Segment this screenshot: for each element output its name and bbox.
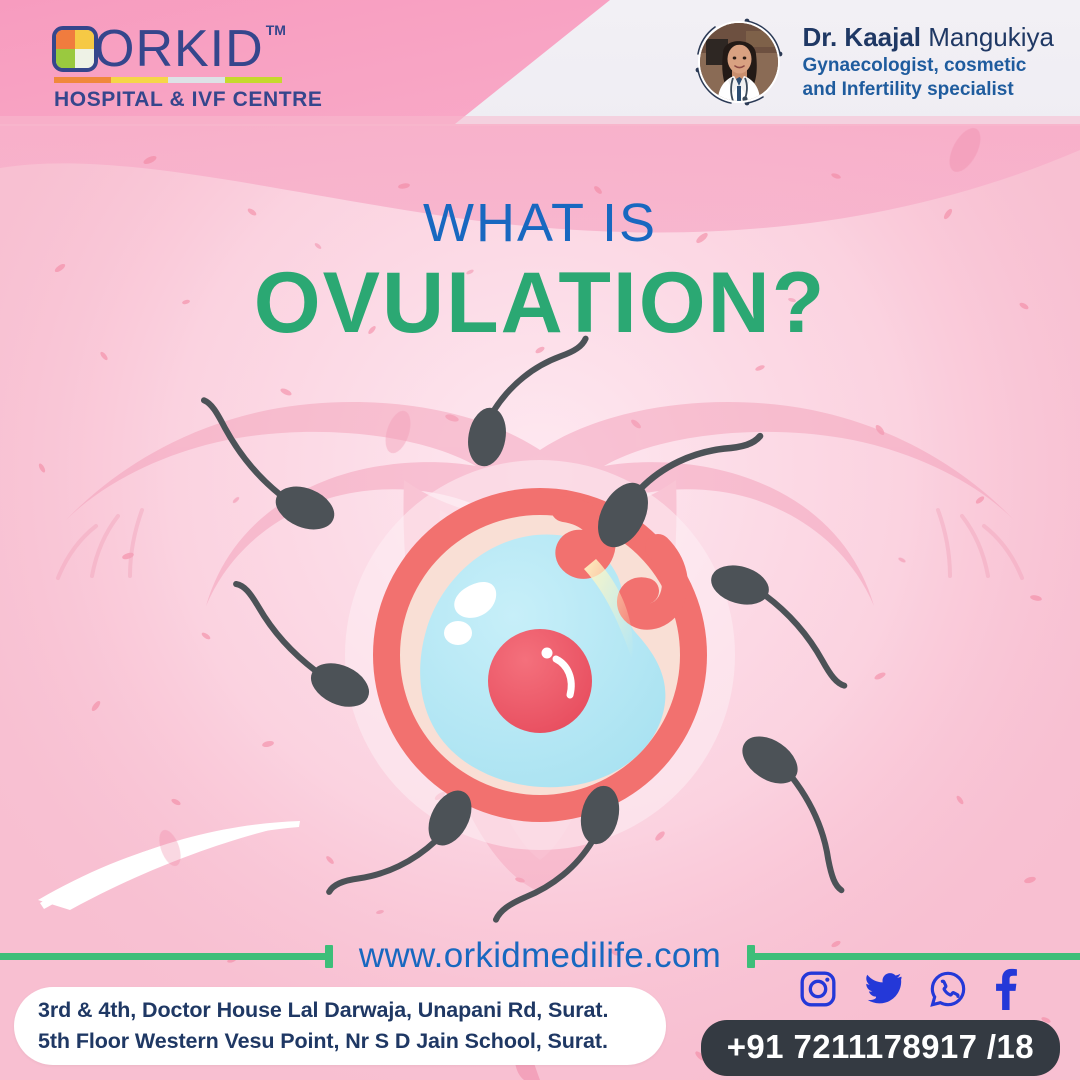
orkid-logo-mark-icon [52,26,98,72]
sperm-cell [707,727,890,890]
nucleus-highlight-dot [542,648,553,659]
address-line-2: 5th Floor Western Vesu Point, Nr S D Jai… [38,1026,666,1057]
page-title: WHAT IS OVULATION? [0,196,1080,348]
website-rule-right [747,953,1080,960]
instagram-icon[interactable] [798,969,838,1009]
ovum [373,488,707,822]
website-url[interactable]: www.orkidmedilife.com [333,936,747,976]
title-line-2: OVULATION? [0,258,1080,348]
logo-subtitle: HOSPITAL & IVF CENTRE [54,88,323,112]
address-box: 3rd & 4th, Doctor House Lal Darwaja, Una… [14,987,666,1065]
header-bar: ORKID TM HOSPITAL & IVF CENTRE [0,0,1080,124]
doctor-portrait-icon [700,23,778,101]
phone-number: +91 7211178917 /18 [727,1028,1034,1065]
doctor-credential-card: Dr. Kaajal Mangukiya Gynaecologist, cosm… [691,14,1054,110]
doctor-name: Dr. Kaajal Mangukiya [803,23,1054,51]
phone-number-pill[interactable]: +91 7211178917 /18 [701,1020,1060,1076]
doctor-name-first: Dr. Kaajal [803,22,922,52]
website-rule-left [0,953,333,960]
avatar [691,14,787,110]
doctor-name-last: Mangukiya [928,22,1054,52]
title-line-1: WHAT IS [0,196,1080,250]
social-links [798,968,1018,1010]
ovum-nucleus [488,629,592,733]
ovum-entry-arm-left [564,509,603,566]
brand-logo[interactable]: ORKID TM HOSPITAL & IVF CENTRE [52,26,323,112]
doctor-text-block: Dr. Kaajal Mangukiya Gynaecologist, cosm… [803,23,1054,100]
logo-wordmark-row: ORKID TM [52,26,286,72]
doctor-role-line-1: Gynaecologist, cosmetic [803,54,1054,77]
poster-canvas: ORKID TM HOSPITAL & IVF CENTRE [0,0,1080,1080]
trademark-icon: TM [266,22,286,38]
twitter-icon[interactable] [862,969,904,1009]
logo-wordmark: ORKID [94,26,264,72]
whatsapp-icon[interactable] [928,969,968,1009]
doctor-portrait-image [700,23,778,101]
ovulation-illustration [0,330,1080,950]
doctor-role-line-2: and Infertility specialist [803,78,1054,101]
facebook-icon[interactable] [992,968,1018,1010]
cytoplasm-highlight-small [444,621,472,645]
address-line-1: 3rd & 4th, Doctor House Lal Darwaja, Una… [38,995,666,1026]
